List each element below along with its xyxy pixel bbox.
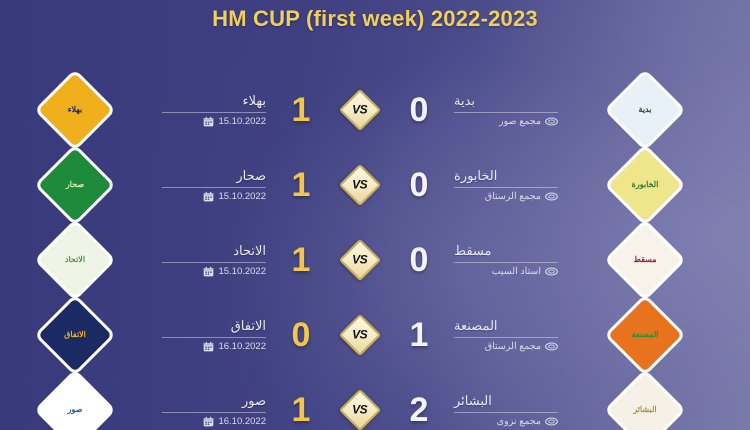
vs-label: VS bbox=[352, 177, 367, 191]
team-info: صحار15.10.2022 bbox=[150, 168, 270, 202]
stadium-icon bbox=[545, 342, 558, 351]
match-date: 16.10.2022 bbox=[162, 412, 266, 427]
match-date-text: 15.10.2022 bbox=[218, 266, 266, 277]
score-value: 0 bbox=[270, 318, 332, 352]
vs-icon: VS bbox=[339, 238, 381, 280]
vs-label: VS bbox=[352, 102, 367, 116]
bidiyah-crest: بدية bbox=[608, 73, 682, 147]
match-row[interactable]: بهلاءبهلاء15.10.20221VS0بديةمجمع صوربدية bbox=[0, 72, 750, 147]
team-name: مسقط bbox=[454, 243, 491, 259]
crest-mark: البشائر bbox=[619, 384, 671, 430]
team-name: الاتحاد bbox=[233, 243, 266, 259]
venue-text: مجمع الرستاق bbox=[485, 191, 541, 202]
team-name: الاتفاق bbox=[231, 318, 266, 334]
match-date: 15.10.2022 bbox=[162, 112, 266, 127]
team-name: المصنعة bbox=[454, 318, 498, 334]
ittifaq-crest: الاتفاق bbox=[38, 298, 112, 372]
team-crest-cell: صحار bbox=[0, 159, 150, 211]
match-date-text: 16.10.2022 bbox=[218, 341, 266, 352]
sur-crest: صور bbox=[38, 373, 112, 430]
team-info: الخابورةمجمع الرستاق bbox=[450, 168, 570, 202]
vs-badge: VS bbox=[332, 320, 388, 350]
match-row[interactable]: الاتحادالاتحاد15.10.20221VS0مسقطاستاد ال… bbox=[0, 222, 750, 297]
calendar-icon bbox=[203, 266, 214, 277]
vs-label: VS bbox=[352, 402, 367, 416]
venue: مجمع صور bbox=[454, 112, 558, 127]
stadium-icon bbox=[545, 267, 558, 276]
match-row[interactable]: صورصور16.10.20221VS2البشائرمجمع نزوىالبش… bbox=[0, 372, 750, 430]
stadium-icon bbox=[545, 192, 558, 201]
team-name: صحار bbox=[236, 168, 266, 184]
crest-mark: صور bbox=[49, 384, 101, 430]
vs-icon: VS bbox=[339, 163, 381, 205]
sohar-crest: صحار bbox=[38, 148, 112, 222]
team-crest-cell: مسقط bbox=[570, 234, 720, 286]
team-name: بدية bbox=[454, 93, 475, 109]
muscat-crest: مسقط bbox=[608, 223, 682, 297]
vs-icon: VS bbox=[339, 88, 381, 130]
crest-mark: المصنعة bbox=[619, 309, 671, 361]
venue: استاد السيب bbox=[454, 262, 558, 277]
crest-mark: بدية bbox=[619, 84, 671, 136]
team-crest-cell: الخابورة bbox=[570, 159, 720, 211]
crest-mark: صحار bbox=[49, 159, 101, 211]
match-date: 15.10.2022 bbox=[162, 262, 266, 277]
musanaah-crest: المصنعة bbox=[608, 298, 682, 372]
team-crest-cell: صور bbox=[0, 384, 150, 430]
score-value: 1 bbox=[270, 93, 332, 127]
vs-badge: VS bbox=[332, 95, 388, 125]
team-info: صور16.10.2022 bbox=[150, 393, 270, 427]
crest-mark: الاتحاد bbox=[49, 234, 101, 286]
page-title: HM CUP (first week) 2022-2023 bbox=[0, 6, 750, 32]
team-info: بديةمجمع صور bbox=[450, 93, 570, 127]
vs-badge: VS bbox=[332, 395, 388, 425]
match-row[interactable]: الاتفاقالاتفاق16.10.20220VS1المصنعةمجمع … bbox=[0, 297, 750, 372]
score-value: 1 bbox=[270, 168, 332, 202]
team-info: البشائرمجمع نزوى bbox=[450, 393, 570, 427]
stadium-icon bbox=[545, 417, 558, 426]
match-date-text: 16.10.2022 bbox=[218, 416, 266, 427]
vs-icon: VS bbox=[339, 388, 381, 430]
team-info: الاتفاق16.10.2022 bbox=[150, 318, 270, 352]
match-date-text: 15.10.2022 bbox=[218, 116, 266, 127]
team-info: مسقطاستاد السيب bbox=[450, 243, 570, 277]
score-value: 1 bbox=[388, 318, 450, 352]
score-value: 1 bbox=[270, 393, 332, 427]
team-crest-cell: الاتحاد bbox=[0, 234, 150, 286]
team-name: البشائر bbox=[454, 393, 492, 409]
crest-mark: الاتفاق bbox=[49, 309, 101, 361]
venue-text: استاد السيب bbox=[492, 266, 541, 277]
match-date: 15.10.2022 bbox=[162, 187, 266, 202]
score-value: 1 bbox=[270, 243, 332, 277]
stadium-icon bbox=[545, 117, 558, 126]
team-name: بهلاء bbox=[243, 93, 266, 109]
team-crest-cell: الاتفاق bbox=[0, 309, 150, 361]
match-row[interactable]: صحارصحار15.10.20221VS0الخابورةمجمع الرست… bbox=[0, 147, 750, 222]
calendar-icon bbox=[203, 191, 214, 202]
bahla-crest: بهلاء bbox=[38, 73, 112, 147]
score-value: 0 bbox=[388, 93, 450, 127]
team-crest-cell: المصنعة bbox=[570, 309, 720, 361]
venue-text: مجمع صور bbox=[499, 116, 541, 127]
vs-badge: VS bbox=[332, 170, 388, 200]
team-crest-cell: بدية bbox=[570, 84, 720, 136]
calendar-icon bbox=[203, 416, 214, 427]
match-list: بهلاءبهلاء15.10.20221VS0بديةمجمع صوربدية… bbox=[0, 72, 750, 430]
venue: مجمع الرستاق bbox=[454, 337, 558, 352]
crest-mark: بهلاء bbox=[49, 84, 101, 136]
calendar-icon bbox=[203, 116, 214, 127]
team-name: الخابورة bbox=[454, 168, 497, 184]
vs-icon: VS bbox=[339, 313, 381, 355]
crest-mark: مسقط bbox=[619, 234, 671, 286]
khaburah-crest: الخابورة bbox=[608, 148, 682, 222]
team-info: بهلاء15.10.2022 bbox=[150, 93, 270, 127]
ittihad-crest: الاتحاد bbox=[38, 223, 112, 297]
team-info: المصنعةمجمع الرستاق bbox=[450, 318, 570, 352]
team-info: الاتحاد15.10.2022 bbox=[150, 243, 270, 277]
vs-label: VS bbox=[352, 252, 367, 266]
match-date-text: 15.10.2022 bbox=[218, 191, 266, 202]
vs-label: VS bbox=[352, 327, 367, 341]
venue: مجمع نزوى bbox=[454, 412, 558, 427]
team-name: صور bbox=[242, 393, 266, 409]
team-crest-cell: بهلاء bbox=[0, 84, 150, 136]
score-value: 0 bbox=[388, 168, 450, 202]
score-value: 2 bbox=[388, 393, 450, 427]
match-date: 16.10.2022 bbox=[162, 337, 266, 352]
calendar-icon bbox=[203, 341, 214, 352]
venue-text: مجمع الرستاق bbox=[485, 341, 541, 352]
team-crest-cell: البشائر bbox=[570, 384, 720, 430]
venue: مجمع الرستاق bbox=[454, 187, 558, 202]
crest-mark: الخابورة bbox=[619, 159, 671, 211]
vs-badge: VS bbox=[332, 245, 388, 275]
score-value: 0 bbox=[388, 243, 450, 277]
venue-text: مجمع نزوى bbox=[497, 416, 541, 427]
bashair-crest: البشائر bbox=[608, 373, 682, 430]
